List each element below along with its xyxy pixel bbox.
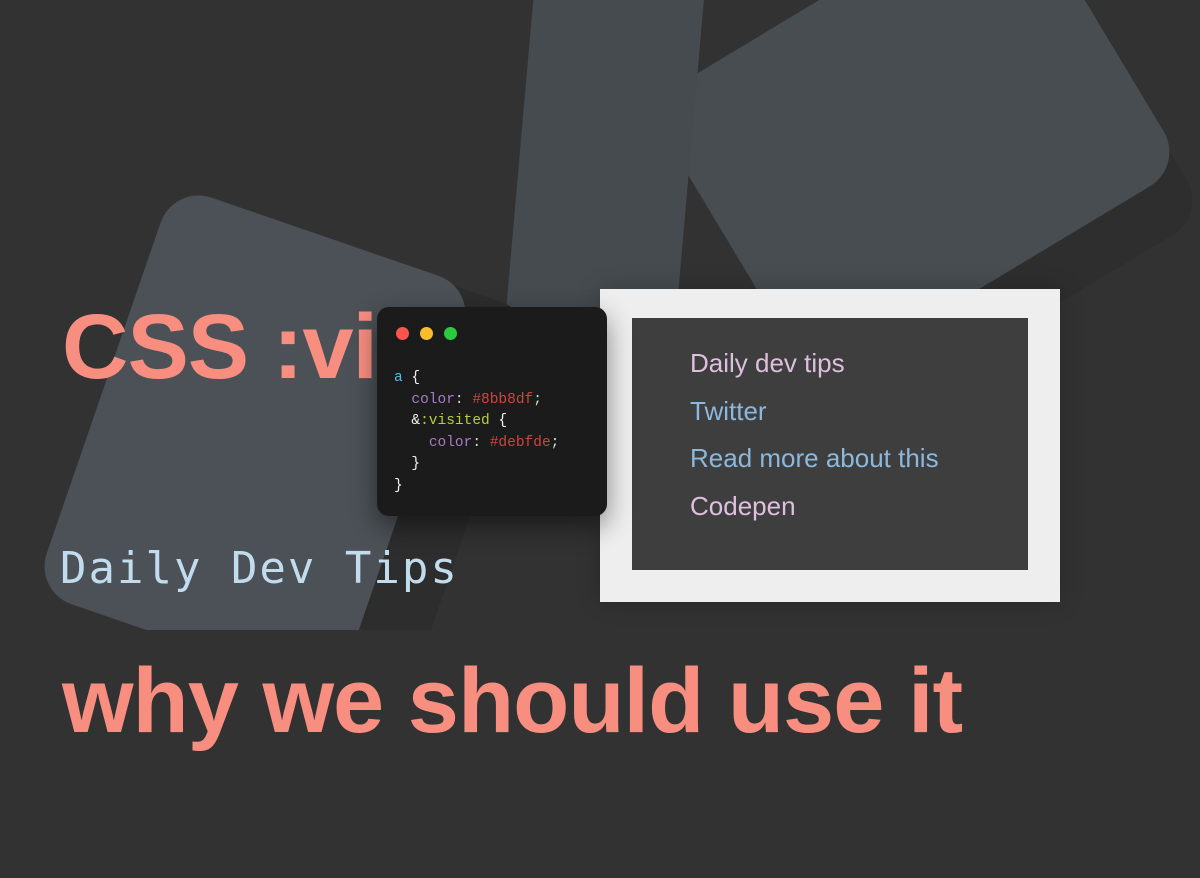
- code-open-brace-1: {: [403, 370, 420, 386]
- code-indent-4: [394, 435, 429, 451]
- code-pseudo-class: :visited: [420, 413, 490, 429]
- code-semicolon-1: ;: [533, 392, 542, 408]
- code-value-2: #debfde: [490, 435, 551, 451]
- code-indent-3: [394, 413, 411, 429]
- code-indent-2: [394, 392, 411, 408]
- links-panel: Daily dev tips Twitter Read more about t…: [632, 318, 1028, 570]
- code-property-2: color: [429, 435, 473, 451]
- maximize-icon[interactable]: [444, 327, 457, 340]
- code-indent-5: [394, 456, 411, 472]
- minimize-icon[interactable]: [420, 327, 433, 340]
- code-close-brace-1: }: [411, 456, 420, 472]
- window-traffic-lights: [396, 327, 457, 340]
- code-ampersand: &: [411, 413, 420, 429]
- code-open-brace-2: {: [490, 413, 507, 429]
- code-window: a { color: #8bb8df; &:visited { color: #…: [377, 307, 607, 516]
- code-value-1: #8bb8df: [472, 392, 533, 408]
- close-icon[interactable]: [396, 327, 409, 340]
- links-list: Daily dev tips Twitter Read more about t…: [690, 340, 939, 530]
- code-semicolon-2: ;: [551, 435, 560, 451]
- list-item[interactable]: Codepen: [690, 483, 939, 531]
- page-title-line-2: why we should use it: [62, 642, 962, 760]
- list-item[interactable]: Twitter: [690, 388, 939, 436]
- code-selector: a: [394, 370, 403, 386]
- brand-wordmark: Daily Dev Tips: [60, 543, 459, 594]
- code-property-1: color: [411, 392, 455, 408]
- code-colon-2: :: [472, 435, 489, 451]
- code-snippet: a { color: #8bb8df; &:visited { color: #…: [394, 367, 601, 497]
- list-item[interactable]: Read more about this: [690, 435, 939, 483]
- links-frame: Daily dev tips Twitter Read more about t…: [600, 289, 1060, 602]
- code-content: a { color: #8bb8df; &:visited { color: #…: [394, 370, 559, 494]
- code-close-brace-2: }: [394, 478, 403, 494]
- list-item[interactable]: Daily dev tips: [690, 340, 939, 388]
- code-colon-1: :: [455, 392, 472, 408]
